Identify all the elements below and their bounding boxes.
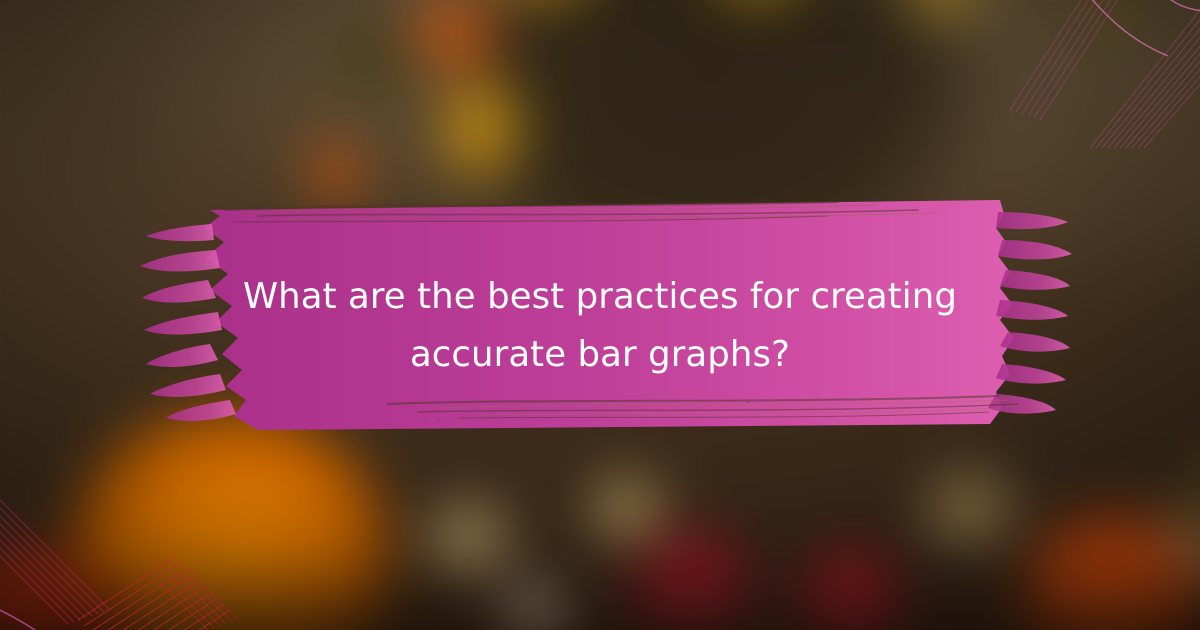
- share-card-canvas: What are the best practices for creating…: [0, 0, 1200, 630]
- headline-text: What are the best practices for creating…: [215, 268, 985, 383]
